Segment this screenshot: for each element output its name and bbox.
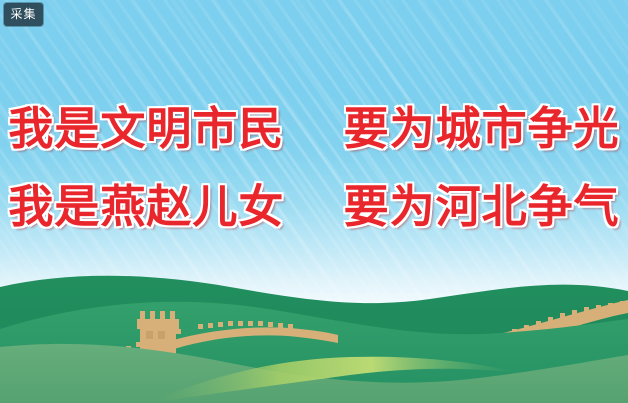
slogan-block: 我是文明市民 要为城市争光 我是燕赵儿女 要为河北争气 [0, 90, 628, 246]
slogan-line-2-left: 我是燕赵儿女 [8, 180, 284, 233]
slogan-line-1-right: 要为城市争光 [344, 102, 620, 155]
poster-canvas: 我是文明市民 要为城市争光 我是燕赵儿女 要为河北争气 采集 [0, 0, 628, 403]
slogan-line-2: 我是燕赵儿女 要为河北争气 [0, 168, 628, 246]
slogan-line-2-right: 要为河北争气 [344, 180, 620, 233]
slogan-line-1-left: 我是文明市民 [8, 102, 284, 155]
landscape-illustration [0, 243, 628, 403]
slogan-line-1: 我是文明市民 要为城市争光 [0, 90, 628, 168]
capture-button[interactable]: 采集 [4, 3, 43, 26]
